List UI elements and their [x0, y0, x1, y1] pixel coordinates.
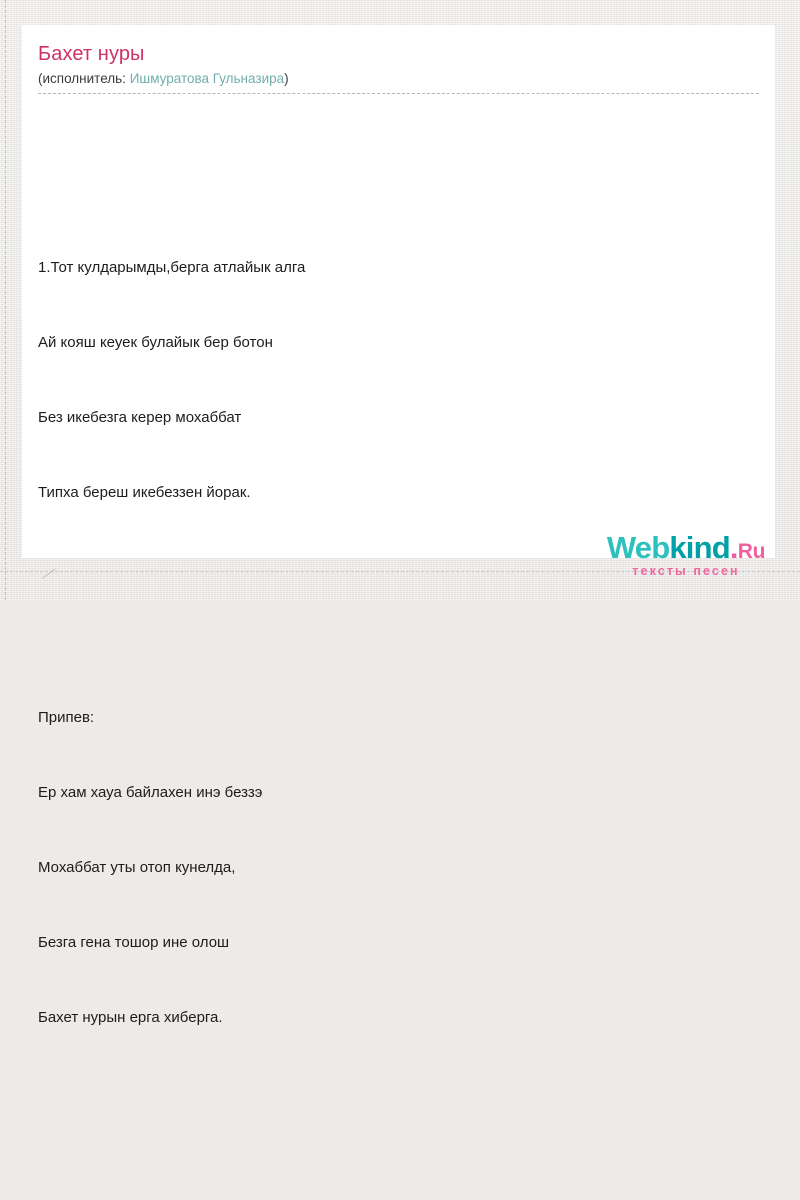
performer-label: (исполнитель: — [38, 71, 130, 86]
lyric-line: Ай кояш кеуек булайык бер ботон — [38, 330, 759, 355]
lyric-line: Безга гена тошор ине олош — [38, 930, 759, 955]
performer-line: (исполнитель: Ишмуратова Гульназира) — [38, 70, 759, 94]
lyric-line: 1.Тот кулдарымды,берга атлайык алга — [38, 255, 759, 280]
site-logo-wordmark: Webkind.Ru — [593, 531, 779, 568]
logo-text-dot: . — [730, 530, 738, 565]
lyric-line: Без икебезга керер мохаббат — [38, 405, 759, 430]
lyric-line: Припев: — [38, 705, 759, 730]
lyrics-content-card: Бахет нуры (исполнитель: Ишмуратова Гуль… — [22, 25, 775, 558]
lyrics-stanza: Припев: Ер хам хауа байлахен инэ беззэ М… — [38, 655, 759, 1080]
site-logo-watermark: Webkind.Ru тексты песен — [593, 531, 779, 578]
song-header: Бахет нуры (исполнитель: Ишмуратова Гуль… — [38, 42, 759, 94]
lyrics-stanza: 1.Тот кулдарымды,берга атлайык алга Ай к… — [38, 205, 759, 555]
lyric-line: Ер хам хауа байлахен инэ беззэ — [38, 780, 759, 805]
lyrics-stanza: 2.Беззен уттай янган мохаббаттан Югалтам… — [38, 1180, 759, 1200]
performer-label-close: ) — [284, 71, 289, 86]
performer-link[interactable]: Ишмуратова Гульназира — [130, 71, 284, 86]
logo-text-web: Web — [607, 530, 669, 565]
lyrics-text: 1.Тот кулдарымды,берга атлайык алга Ай к… — [38, 130, 759, 1200]
page-title: Бахет нуры — [38, 42, 759, 66]
logo-text-ru: Ru — [738, 540, 765, 563]
logo-text-kind: kind — [669, 530, 730, 565]
lyric-line: Типха береш икебеззен йорак. — [38, 480, 759, 505]
lyric-line: Мохаббат уты отоп кунелда, — [38, 855, 759, 880]
lyric-line: Бахет нурын ерга хиберга. — [38, 1005, 759, 1030]
